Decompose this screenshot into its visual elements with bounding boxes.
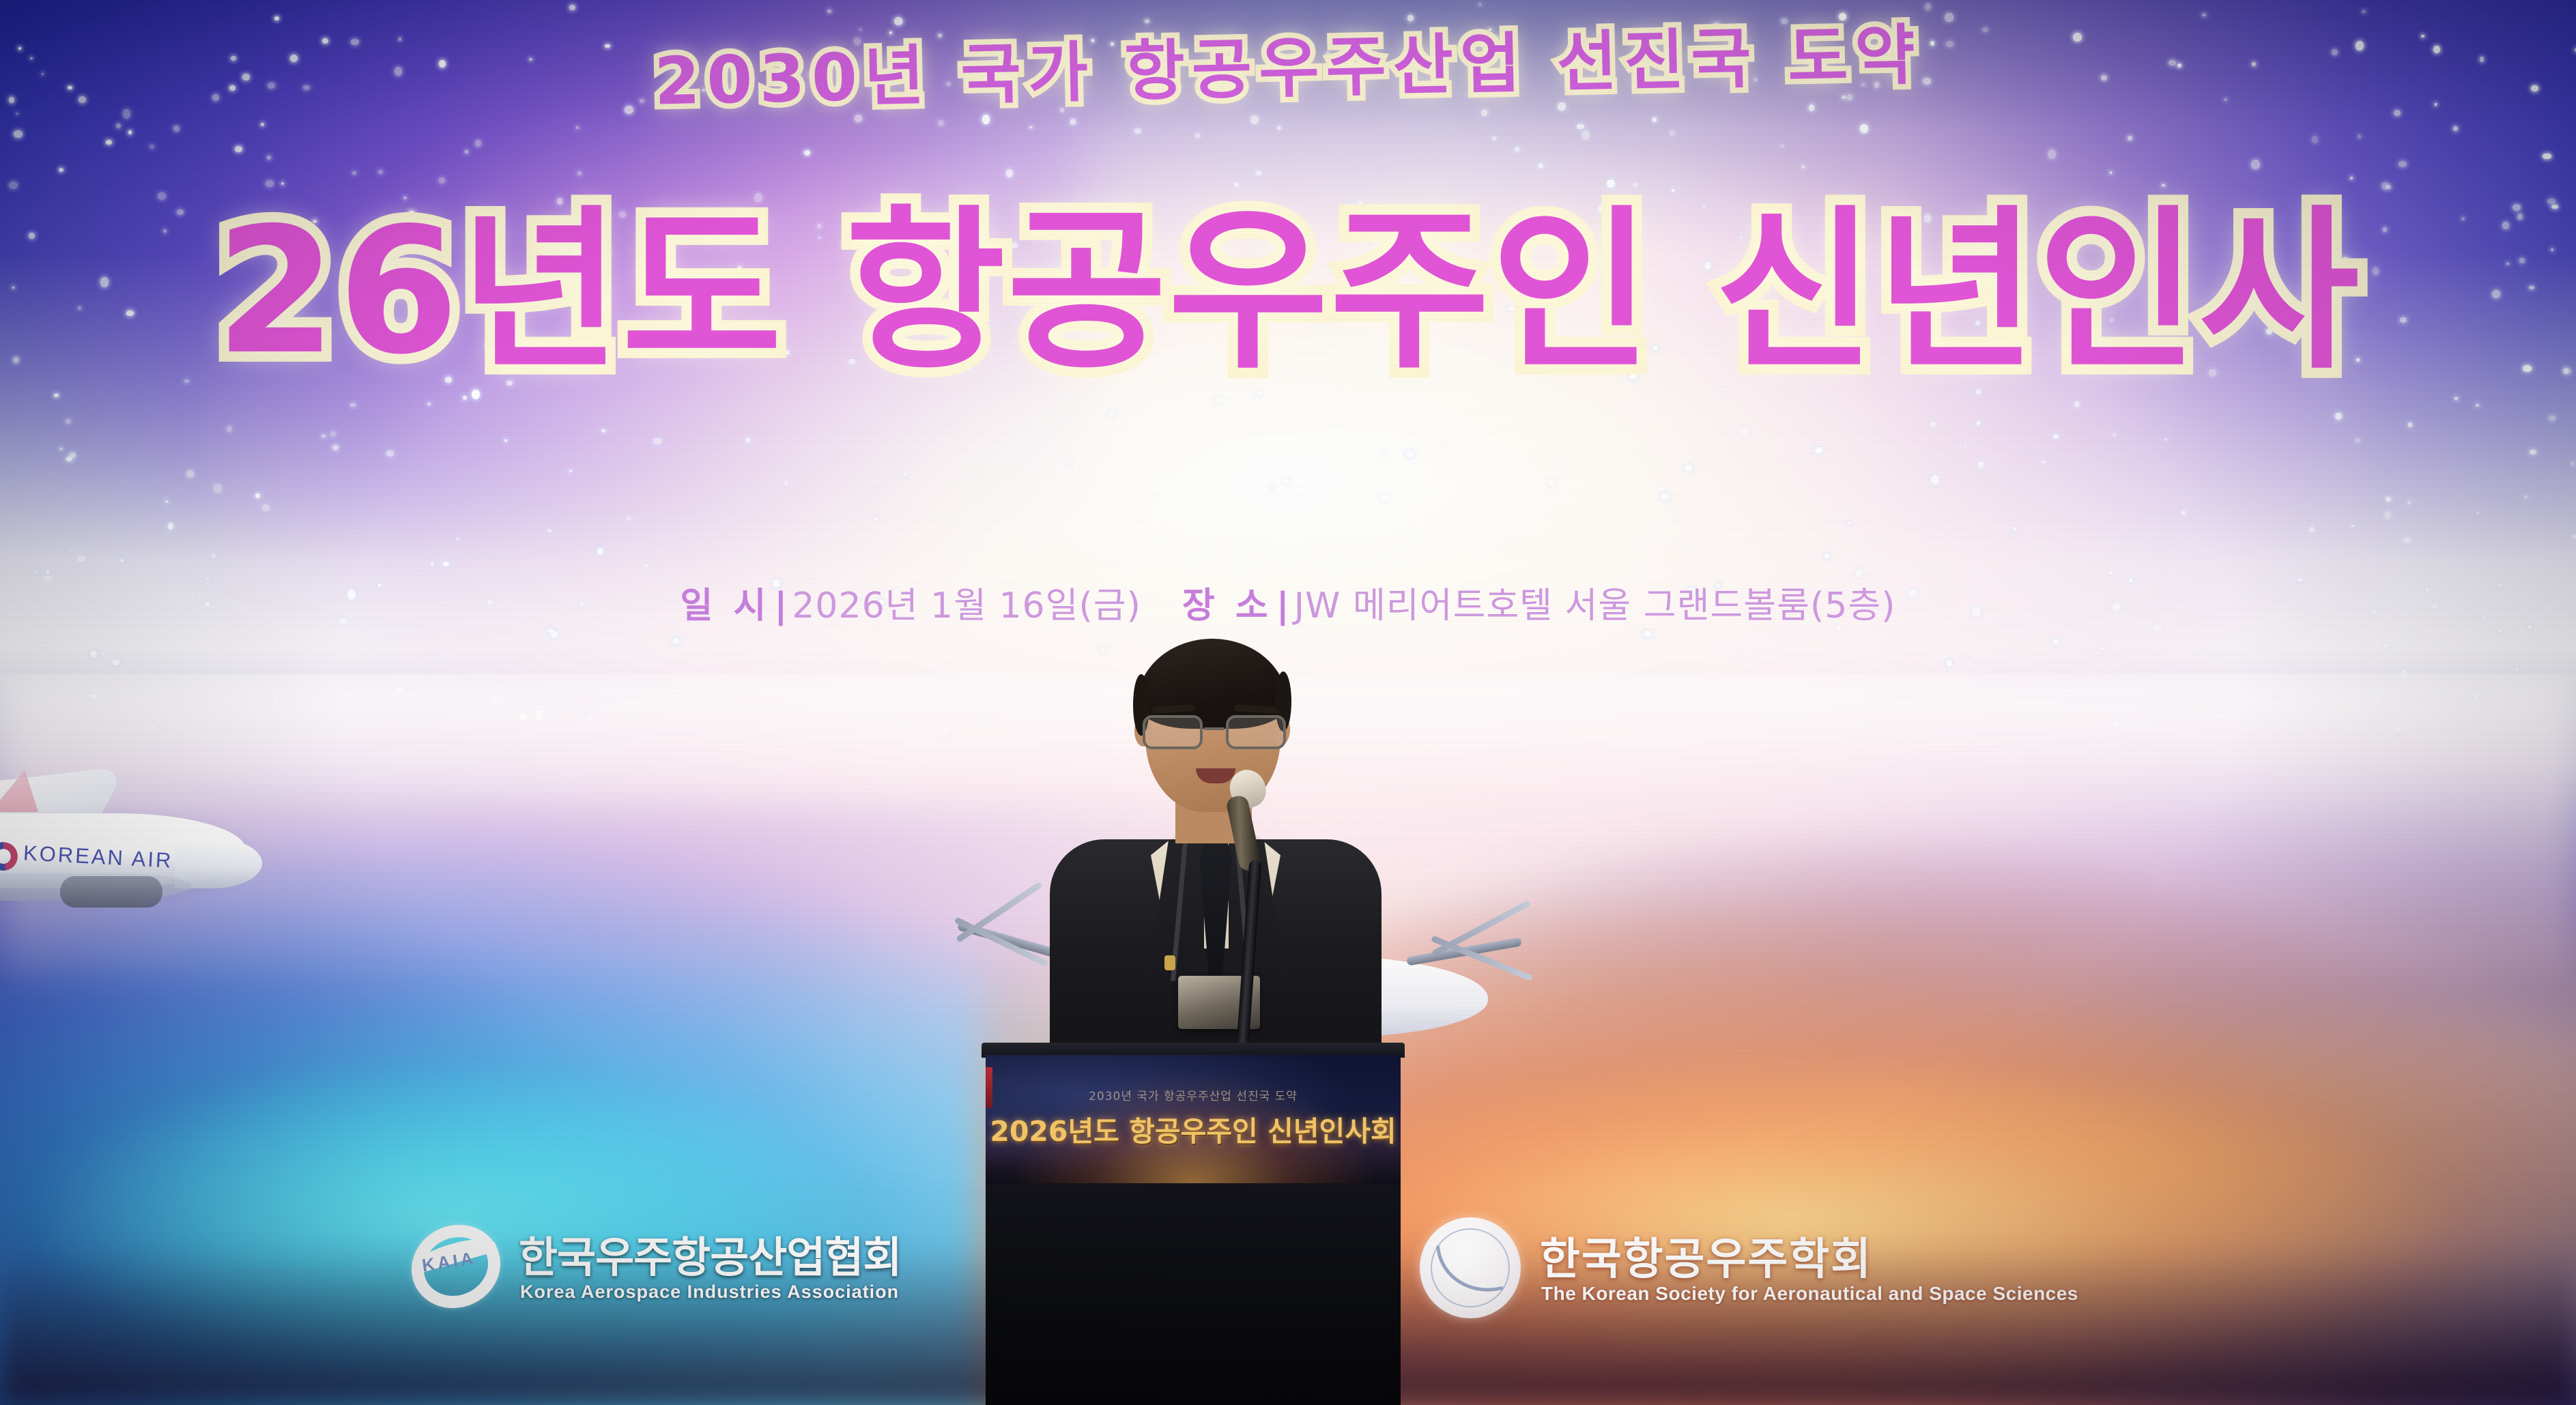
star-icon [2453,126,2458,131]
star-icon [1966,661,1972,665]
star-icon [386,450,395,456]
logo-kaia: KAIA 한국우주항공산업협회 Korea Aerospace Industri… [410,1219,833,1362]
kaia-emblem-icon: KAIA [410,1219,505,1314]
star-icon [643,564,648,568]
star-icon [70,452,76,458]
star-icon [569,5,575,11]
star-icon [465,150,468,154]
star-icon [2312,136,2318,143]
star-icon [214,484,222,493]
star-icon [168,523,174,530]
star-icon [653,438,661,445]
star-icon [332,445,339,450]
star-icon [77,555,85,562]
star-icon [1931,475,1939,484]
star-icon [2506,263,2509,265]
star-icon [2524,495,2528,499]
star-icon [2513,204,2521,211]
star-icon [2309,527,2315,533]
star-icon [2110,171,2112,174]
microphone-stand [1235,860,1262,1065]
star-icon [255,493,260,498]
star-icon [2048,149,2056,159]
star-icon [2517,214,2523,220]
star-icon [1283,479,1289,484]
star-icon [1234,182,1239,188]
star-icon [106,140,113,145]
star-icon [1277,126,1280,130]
star-icon [1644,631,1652,637]
star-icon [126,310,133,315]
separator-2: | [1272,585,1294,626]
korean-air-aircraft-graphic: KOREAN AIR [0,770,266,940]
star-icon [1802,166,1805,168]
star-icon [1685,465,1692,472]
date-value: 2026년 1월 16일(금) [792,585,1141,626]
star-icon [784,480,789,485]
kaia-english-name: Korea Aerospace Industries Association [520,1281,899,1303]
star-icon [1070,119,1075,125]
podium-lectern: 2030년 국가 항공우주산업 선진국 도약 2026년도 항공우주인 신년인사… [982,1043,1405,1405]
star-icon [2350,177,2353,179]
star-icon [165,500,169,503]
star-icon [163,229,167,233]
star-icon [443,562,448,566]
star-icon [2530,450,2536,454]
star-icon [2435,103,2437,106]
lens-left [1143,715,1203,749]
star-icon [2403,538,2411,543]
star-icon [577,171,581,175]
star-icon [1492,136,1497,141]
star-icon [1068,462,1071,465]
podium-sign-panel: 2030년 국가 항공우주산업 선진국 도약 2026년도 항공우주인 신년인사… [986,1055,1401,1185]
star-icon [2013,527,2016,530]
star-icon [2455,397,2457,401]
star-icon [1108,412,1115,418]
banner-meta-line: 일 시|2026년 1월 16일(금)장 소|JW 메리어트호텔 서울 그랜드볼… [0,577,2576,628]
aircraft-engine [60,876,162,908]
star-icon [1479,3,1481,5]
star-icon [2502,222,2508,229]
star-icon [547,529,552,532]
star-icon [672,638,679,644]
star-icon [350,403,355,407]
star-icon [597,548,603,554]
venue-value: JW 메리어트호텔 서울 그랜드볼룸(5층) [1294,585,1896,626]
star-icon [1380,494,1388,503]
star-icon [42,645,45,648]
star-icon [1406,451,1414,458]
star-icon [2053,435,2059,439]
star-icon [1539,163,1543,169]
star-icon [378,170,383,174]
star-icon [475,140,481,146]
star-icon [1250,115,1259,124]
star-icon [102,653,104,656]
star-icon [2492,290,2500,298]
star-icon [876,481,878,484]
star-icon [2164,438,2168,441]
star-icon [112,659,119,666]
star-icon [1481,109,1487,116]
star-icon [738,557,741,560]
star-icon [427,403,431,406]
star-icon [1964,445,1966,446]
star-icon [1860,124,1868,133]
star-icon [352,171,356,175]
star-icon [2384,511,2391,519]
microphone [1214,770,1296,1063]
ksas-english-name: The Korean Society for Aeronautical and … [1541,1283,2078,1305]
banner-main-title: 26년도 항공우주인 신년인사 [215,205,2360,379]
star-icon [2386,497,2391,502]
star-icon [1661,493,1668,501]
star-icon [2461,217,2464,220]
star-icon [457,538,459,540]
star-icon [2358,134,2362,139]
star-icon [235,146,242,152]
star-icon [2351,525,2354,527]
star-icon [1781,145,1784,147]
separator-1: | [770,585,792,626]
star-icon [267,156,270,160]
star-icon [904,473,907,476]
star-icon [1607,179,1615,188]
star-icon [2407,501,2411,504]
star-icon [938,120,945,126]
star-icon [266,180,274,186]
star-icon [59,448,63,450]
star-icon [1848,522,1851,524]
star-icon [2571,461,2575,466]
star-icon [90,650,97,658]
star-icon [100,277,109,287]
star-icon [1134,128,1141,134]
star-icon [1921,459,1924,461]
star-icon [463,396,468,400]
star-icon [2109,571,2112,575]
star-icon [1633,183,1637,187]
star-icon [1515,147,1519,152]
venue-label: 장 소 [1182,585,1272,626]
star-icon [59,168,63,172]
star-icon [46,570,49,573]
star-icon [281,182,284,185]
star-icon [1195,133,1200,137]
star-icon [2355,438,2361,443]
logo-ksas: 한국항공우주학회 The Korean Society for Aeronaut… [1420,1215,1952,1361]
star-icon [330,431,336,437]
star-icon [1442,442,1444,444]
star-icon [1977,421,1981,425]
star-icon [2543,154,2551,160]
star-icon [1577,124,1584,130]
podium-sign-title: 2026년도 항공우주인 신년인사회 [986,1108,1401,1149]
ksas-emblem-icon [1420,1217,1521,1318]
star-icon [2476,512,2479,514]
star-icon [9,182,17,189]
star-icon [2499,630,2502,633]
star-icon [227,426,232,432]
star-icon [745,437,750,442]
star-icon [804,150,810,156]
star-icon [1582,130,1590,140]
star-icon [1930,422,1936,428]
star-icon [158,192,166,200]
star-icon [982,115,990,124]
star-icon [1214,397,1223,403]
lapel-pin [1164,955,1175,970]
star-icon [2547,199,2556,205]
star-icon [2394,110,2401,116]
star-icon [2529,286,2534,290]
star-icon [2399,161,2407,167]
podium-sign-subtitle: 2030년 국가 항공우주산업 선진국 도약 [986,1086,1401,1103]
star-icon [2551,205,2558,209]
star-icon [262,504,269,511]
star-icon [439,177,446,184]
star-icon [2113,433,2116,437]
star-icon [2564,368,2571,374]
date-label: 일 시 [681,585,771,626]
star-icon [1006,169,1014,177]
star-icon [576,126,579,128]
star-icon [627,516,631,520]
star-icon [2128,136,2132,141]
star-icon [875,517,878,521]
star-icon [2408,422,2412,427]
star-icon [601,429,605,433]
star-icon [1029,126,1033,129]
glasses-bridge [1204,727,1225,730]
star-icon [2573,534,2576,539]
star-icon [2551,248,2553,251]
star-icon [1547,480,1556,486]
star-icon [66,419,71,424]
star-icon [2410,628,2413,631]
star-icon [2400,317,2407,323]
star-icon [2523,365,2532,372]
star-icon [2549,416,2556,420]
star-icon [2162,184,2164,186]
star-icon [719,638,721,640]
star-icon [2074,401,2080,407]
star-icon [1652,117,1657,122]
star-icon [1670,130,1675,136]
star-icon [2383,227,2387,231]
ksas-korean-name: 한국항공우주학회 [1540,1224,1872,1287]
star-icon [1947,660,1953,667]
star-icon [121,559,124,562]
star-icon [13,357,19,363]
star-icon [184,379,188,383]
star-icon [827,10,831,13]
event-photo-stage: 2030년 국가 항공우주산업 선진국 도약 26년도 항공우주인 신년인사 일… [0,0,2576,1405]
star-icon [1809,104,1815,111]
star-icon [78,306,82,310]
star-icon [1561,463,1564,467]
star-icon [1815,447,1822,454]
star-icon [1255,171,1262,175]
star-icon [149,145,154,149]
star-icon [321,435,325,437]
star-icon [29,233,35,239]
kaia-korean-name: 한국우주항공산업협회 [519,1223,901,1284]
star-icon [1270,487,1273,489]
star-icon [177,209,184,215]
eyeglasses [1139,715,1290,751]
star-icon [70,550,72,552]
star-icon [2516,668,2518,670]
star-icon [212,554,215,557]
star-icon [2251,160,2260,169]
star-icon [504,439,506,441]
star-icon [2335,413,2342,420]
star-icon [2476,404,2478,406]
star-icon [431,562,434,566]
star-icon [1824,553,1829,558]
star-icon [186,470,195,478]
lens-right [1226,715,1286,749]
star-icon [2531,85,2538,92]
star-icon [2384,643,2389,648]
star-icon [54,394,58,398]
star-icon [1978,461,1984,468]
star-icon [35,571,37,573]
star-icon [1740,427,1749,436]
star-icon [274,16,279,21]
star-icon [2519,258,2525,263]
star-icon [2101,648,2103,650]
star-icon [2224,98,2227,101]
star-icon [12,287,14,289]
star-icon [1383,451,1386,454]
podium-body [986,1183,1401,1405]
star-icon [2373,267,2379,275]
star-icon [569,470,572,472]
star-icon [547,628,553,633]
aircraft-nose [175,838,262,888]
star-icon [2181,510,2186,515]
star-icon [2042,461,2046,463]
star-icon [2052,639,2059,644]
